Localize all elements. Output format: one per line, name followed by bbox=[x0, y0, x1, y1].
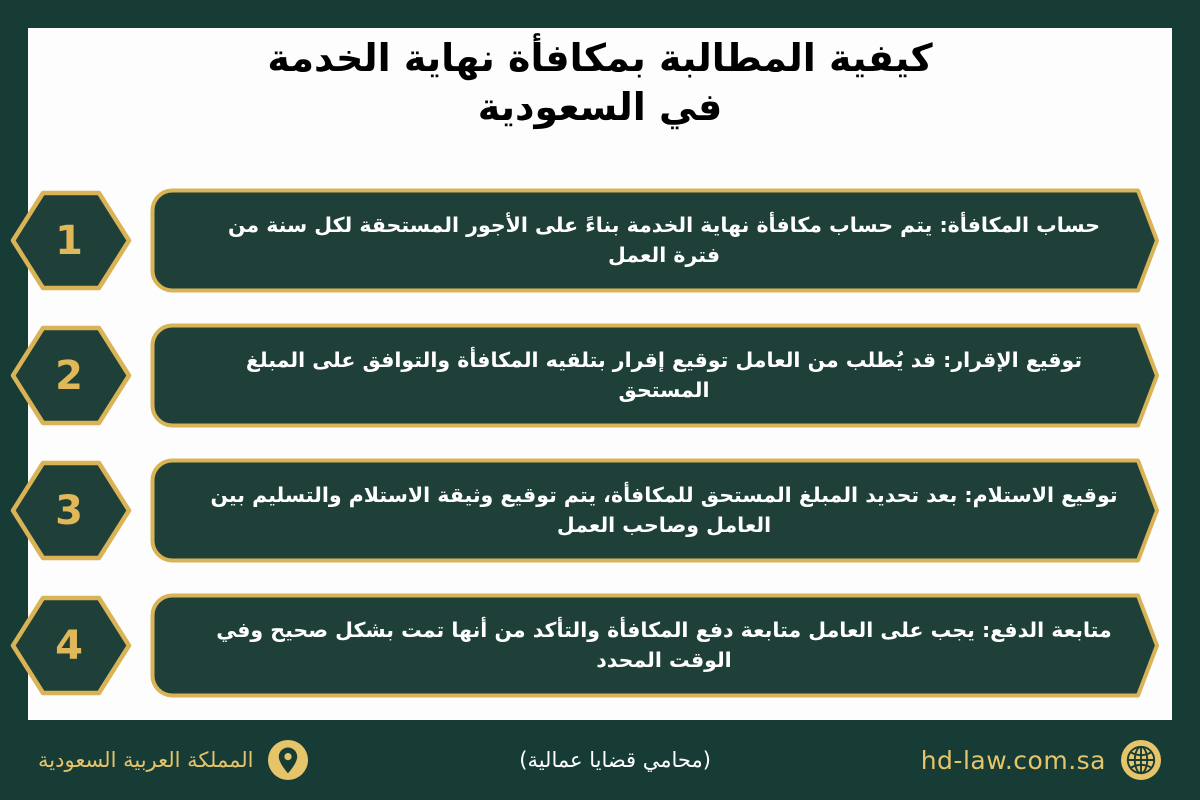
step-text: متابعة الدفع: يجب على العامل متابعة دفع … bbox=[202, 593, 1126, 698]
footer-location-label: المملكة العربية السعودية bbox=[38, 748, 253, 772]
title-area: كيفية المطالبة بمكافأة نهاية الخدمة في ا… bbox=[28, 34, 1172, 131]
infographic-root: كيفية المطالبة بمكافأة نهاية الخدمة في ا… bbox=[0, 0, 1200, 800]
step-number-badge[interactable]: 4 bbox=[10, 595, 132, 696]
footer-center-label: (محامي قضايا عمالية) bbox=[519, 748, 711, 772]
location-pin-icon bbox=[267, 739, 309, 781]
step-text: حساب المكافأة: يتم حساب مكافأة نهاية الخ… bbox=[202, 188, 1126, 293]
step-bar[interactable]: متابعة الدفع: يجب على العامل متابعة دفع … bbox=[150, 593, 1160, 698]
steps-list: حساب المكافأة: يتم حساب مكافأة نهاية الخ… bbox=[28, 188, 1172, 728]
step-row: توقيع الإقرار: قد يُطلب من العامل توقيع … bbox=[28, 323, 1172, 428]
footer-location: المملكة العربية السعودية bbox=[38, 739, 309, 781]
step-number-badge[interactable]: 1 bbox=[10, 190, 132, 291]
footer-bar: المملكة العربية السعودية (محامي قضايا عم… bbox=[0, 720, 1200, 800]
step-bar[interactable]: توقيع الاستلام: بعد تحديد المبلغ المستحق… bbox=[150, 458, 1160, 563]
content-panel: كيفية المطالبة بمكافأة نهاية الخدمة في ا… bbox=[28, 28, 1172, 720]
step-number: 1 bbox=[10, 190, 132, 291]
step-text: توقيع الإقرار: قد يُطلب من العامل توقيع … bbox=[202, 323, 1126, 428]
step-number: 4 bbox=[10, 595, 132, 696]
step-row: حساب المكافأة: يتم حساب مكافأة نهاية الخ… bbox=[28, 188, 1172, 293]
step-number-badge[interactable]: 2 bbox=[10, 325, 132, 426]
step-number: 2 bbox=[10, 325, 132, 426]
footer-website[interactable]: hd-law.com.sa bbox=[921, 739, 1162, 781]
step-row: توقيع الاستلام: بعد تحديد المبلغ المستحق… bbox=[28, 458, 1172, 563]
step-text: توقيع الاستلام: بعد تحديد المبلغ المستحق… bbox=[202, 458, 1126, 563]
footer-website-url[interactable]: hd-law.com.sa bbox=[921, 746, 1106, 775]
step-bar[interactable]: توقيع الإقرار: قد يُطلب من العامل توقيع … bbox=[150, 323, 1160, 428]
step-number-badge[interactable]: 3 bbox=[10, 460, 132, 561]
globe-icon bbox=[1120, 739, 1162, 781]
step-row: متابعة الدفع: يجب على العامل متابعة دفع … bbox=[28, 593, 1172, 698]
step-bar[interactable]: حساب المكافأة: يتم حساب مكافأة نهاية الخ… bbox=[150, 188, 1160, 293]
page-title: كيفية المطالبة بمكافأة نهاية الخدمة في ا… bbox=[28, 34, 1172, 131]
step-number: 3 bbox=[10, 460, 132, 561]
